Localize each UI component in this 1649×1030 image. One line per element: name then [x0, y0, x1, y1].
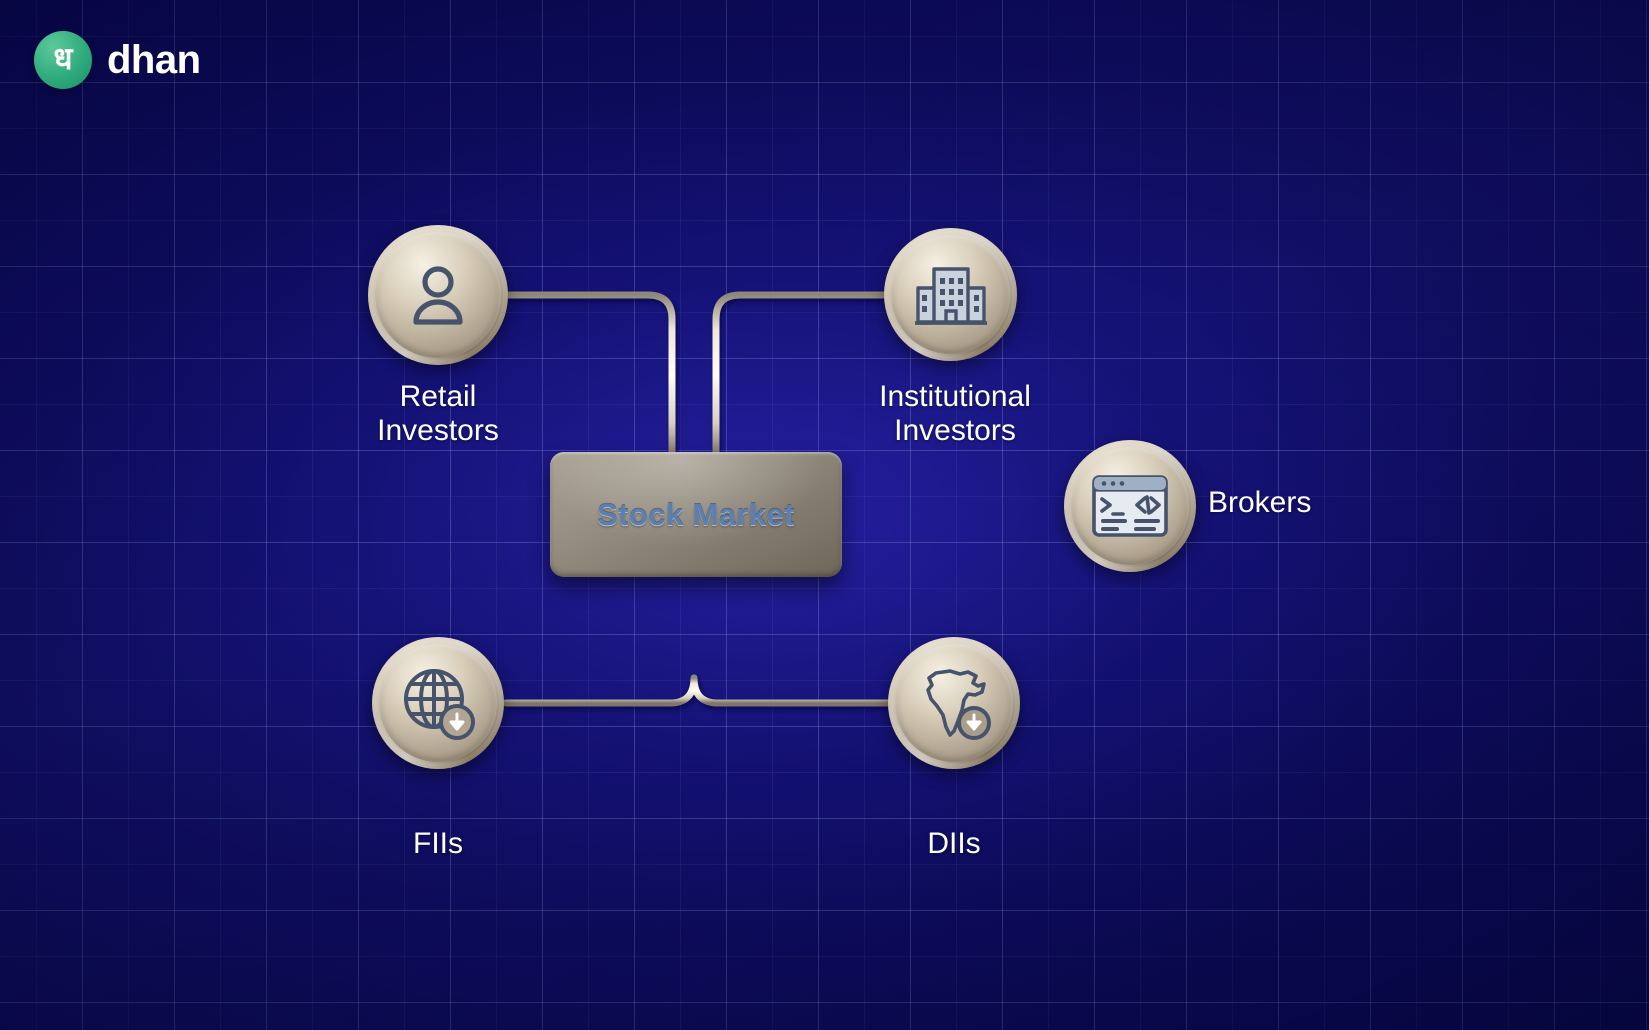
node-brokers[interactable]: [1064, 440, 1196, 572]
retail-investors-coin[interactable]: [368, 225, 508, 365]
label-brokers: Brokers: [1208, 486, 1448, 520]
stock-market-plate[interactable]: Stock Market: [550, 452, 842, 577]
fiis-coin[interactable]: [372, 637, 504, 769]
label-retail-investors: Retail Investors: [288, 380, 588, 448]
diis-coin[interactable]: [888, 637, 1020, 769]
label-fiis: FIIs: [338, 827, 538, 861]
person-icon: [403, 260, 473, 330]
node-retail-investors[interactable]: [368, 225, 508, 365]
brand-wordmark: dhan: [107, 38, 201, 83]
brokers-coin[interactable]: [1064, 440, 1196, 572]
building-icon: [915, 262, 987, 328]
node-fiis[interactable]: [372, 637, 504, 769]
node-stock-market[interactable]: Stock Market: [550, 452, 842, 577]
india-map-download-icon: [916, 665, 992, 741]
institutional-investors-coin[interactable]: [884, 228, 1017, 361]
brand-logo: ध dhan: [34, 31, 201, 89]
dhan-logo-glyph: ध: [53, 44, 72, 75]
node-institutional-investors[interactable]: [884, 228, 1017, 361]
globe-download-icon: [401, 666, 475, 740]
node-diis[interactable]: [888, 637, 1020, 769]
label-diis: DIIs: [854, 827, 1054, 861]
code-terminal-icon: [1091, 473, 1169, 539]
dhan-logo-icon: ध: [34, 31, 92, 89]
infographic-canvas: ध dhan: [0, 0, 1649, 1030]
label-institutional-investors: Institutional Investors: [805, 380, 1105, 448]
stock-market-label: Stock Market: [597, 497, 795, 533]
